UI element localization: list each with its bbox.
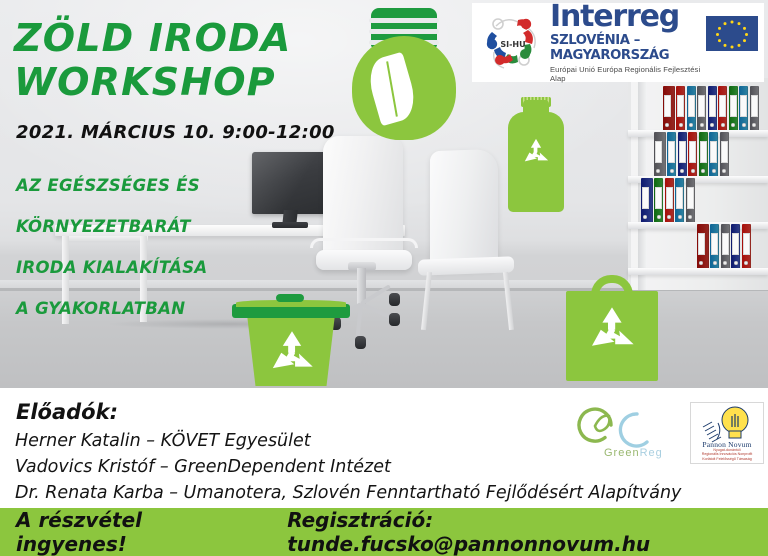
binder-label — [700, 141, 707, 163]
pannon-novum-subtitle-line: Korlátolt Felelősségű Társaság — [690, 457, 764, 461]
binder-ring-hole — [712, 169, 716, 173]
event-date: 2021. MÁRCIUS 10. 9:00-12:00 — [16, 122, 335, 143]
binder-ring-hole — [752, 123, 756, 127]
interreg-brand: Interreg — [550, 2, 706, 32]
binder-ring-hole — [689, 123, 693, 127]
interreg-programme: SZLOVÉNIA – MAGYARORSZÁG — [550, 33, 706, 63]
binder-ring-hole — [678, 215, 682, 219]
binder — [708, 86, 717, 130]
chair-wheel — [389, 293, 400, 306]
greenreg-word-reg: Reg — [640, 447, 663, 459]
binder-ring-hole — [742, 123, 746, 127]
binder-ring-hole — [691, 169, 695, 173]
binder-label — [687, 187, 694, 209]
binder-ring-hole — [670, 169, 674, 173]
binder-ring-hole — [701, 169, 705, 173]
shelf-board — [628, 268, 768, 275]
title-line-1: ZÖLD IRODA — [14, 16, 344, 60]
binder-label — [676, 187, 683, 209]
binder-label — [666, 187, 673, 209]
binder — [676, 86, 685, 130]
binder-label — [711, 233, 718, 255]
event-subtitle: AZ EGÉSZSÉGES ÉSKÖRNYEZETBARÁTIRODA KIAL… — [16, 176, 316, 340]
binder — [742, 224, 751, 268]
binder-label — [730, 95, 737, 117]
binder-row — [663, 86, 761, 130]
binder — [729, 86, 738, 130]
greenreg-word-green: Green — [604, 447, 640, 459]
binder — [688, 132, 697, 176]
binder-ring-hole — [680, 169, 684, 173]
binder-ring-hole — [722, 169, 726, 173]
si-hu-label: SI-HU — [500, 40, 525, 49]
binder — [667, 132, 676, 176]
subtitle-line-1: AZ EGÉSZSÉGES ÉS — [16, 176, 316, 195]
eu-flag-icon — [706, 16, 758, 51]
binder-ring-hole — [665, 123, 669, 127]
binder-label — [679, 141, 686, 163]
chair-wheel — [355, 336, 366, 349]
binder-row — [654, 132, 731, 176]
binder-label — [709, 95, 716, 117]
binder-label — [655, 187, 662, 209]
binder-label — [642, 187, 649, 209]
binder — [687, 86, 696, 130]
binder — [654, 178, 663, 222]
footer-bar: A részvétel ingyenes! Regisztráció: tund… — [0, 508, 768, 556]
binder — [718, 86, 727, 130]
pannon-novum-subtitle: Nyugat-dunántúliRegionális Innovációs No… — [690, 448, 764, 461]
binder — [675, 178, 684, 222]
binder-label — [743, 233, 750, 255]
binder — [731, 224, 740, 268]
binder-ring-hole — [731, 123, 735, 127]
interreg-text-block: Interreg SZLOVÉNIA – MAGYARORSZÁG Európa… — [548, 2, 706, 83]
recycle-symbol-icon — [586, 305, 638, 353]
binder-label — [722, 233, 729, 255]
binder-label — [710, 141, 717, 163]
binder-ring-hole — [723, 261, 727, 265]
binder-label — [655, 141, 662, 163]
chair-wheel — [389, 313, 400, 326]
binder — [678, 132, 687, 176]
binder-label — [698, 95, 705, 117]
recycle-shopping-bag-icon — [566, 291, 658, 381]
binder — [697, 224, 709, 268]
lightbulb-thread-ring — [369, 18, 439, 23]
binder-ring-hole — [710, 123, 714, 127]
subtitle-line-2: KÖRNYEZETBARÁT — [16, 217, 316, 236]
binder — [663, 86, 675, 130]
binder-ring-hole — [667, 215, 671, 219]
interreg-logo: SI-HU Interreg SZLOVÉNIA – MAGYARORSZÁG … — [472, 3, 764, 82]
binder-ring-hole — [679, 123, 683, 127]
binder — [739, 86, 748, 130]
subtitle-line-3: IRODA KIALAKÍTÁSA — [16, 258, 316, 277]
free-participation-text: A részvétel ingyenes! — [16, 508, 243, 556]
binder-ring-hole — [721, 123, 725, 127]
binder-ring-hole — [656, 169, 660, 173]
binder-ring-hole — [744, 261, 748, 265]
leaf-icon — [364, 52, 421, 126]
binder-label — [751, 95, 758, 117]
registration-text: Regisztráció: tunde.fucsko@pannonnovum.h… — [287, 508, 768, 556]
subtitle-line-4: A GYAKORLATBAN — [16, 299, 316, 318]
greenreg-wordmark: GreenReg — [604, 447, 663, 459]
binder-label — [740, 95, 747, 117]
binder — [641, 178, 653, 222]
binder — [699, 132, 708, 176]
poster-root: ZÖLD IRODA WORKSHOP 2021. MÁRCIUS 10. 9:… — [0, 0, 768, 556]
visitor-chair-seat — [418, 256, 514, 275]
title-line-2: WORKSHOP — [14, 60, 344, 104]
visitor-chair-backrest — [430, 149, 498, 271]
binder — [750, 86, 759, 130]
binder — [654, 132, 666, 176]
binder-label — [698, 233, 705, 255]
binder-ring-hole — [734, 261, 738, 265]
binder-row — [641, 178, 697, 222]
speaker-item: Dr. Renata Karba – Umanotera, Szlovén Fe… — [15, 480, 715, 506]
binder-label — [721, 141, 728, 163]
green-lightbulb-icon — [352, 36, 456, 140]
binder-ring-hole — [713, 261, 717, 265]
binder — [709, 132, 718, 176]
binder-label — [732, 233, 739, 255]
binder-label — [719, 95, 726, 117]
binder-ring-hole — [699, 261, 703, 265]
speakers-heading: Előadók: — [16, 400, 118, 424]
binder — [710, 224, 719, 268]
binder-ring-hole — [657, 215, 661, 219]
binder-label — [668, 141, 675, 163]
binder — [697, 86, 706, 130]
recycle-bottle-icon — [508, 112, 564, 212]
office-chair-armrest — [310, 238, 418, 248]
binder — [665, 178, 674, 222]
binder-label — [664, 95, 671, 117]
recycle-symbol-icon — [521, 138, 551, 166]
binder-label — [677, 95, 684, 117]
binder — [721, 224, 730, 268]
interreg-fund-note: Európai Unió Európa Regionális Fejleszté… — [550, 65, 706, 83]
binder-label — [689, 141, 696, 163]
page-title: ZÖLD IRODA WORKSHOP — [14, 16, 344, 104]
binder-ring-hole — [700, 123, 704, 127]
binder-ring-hole — [643, 215, 647, 219]
binder — [720, 132, 729, 176]
binder-label — [688, 95, 695, 117]
si-hu-emblem-icon: SI-HU — [478, 12, 548, 74]
lightbulb-thread-ring — [369, 29, 439, 34]
binder-ring-hole — [688, 215, 692, 219]
binder-row — [697, 224, 753, 268]
binder — [686, 178, 695, 222]
